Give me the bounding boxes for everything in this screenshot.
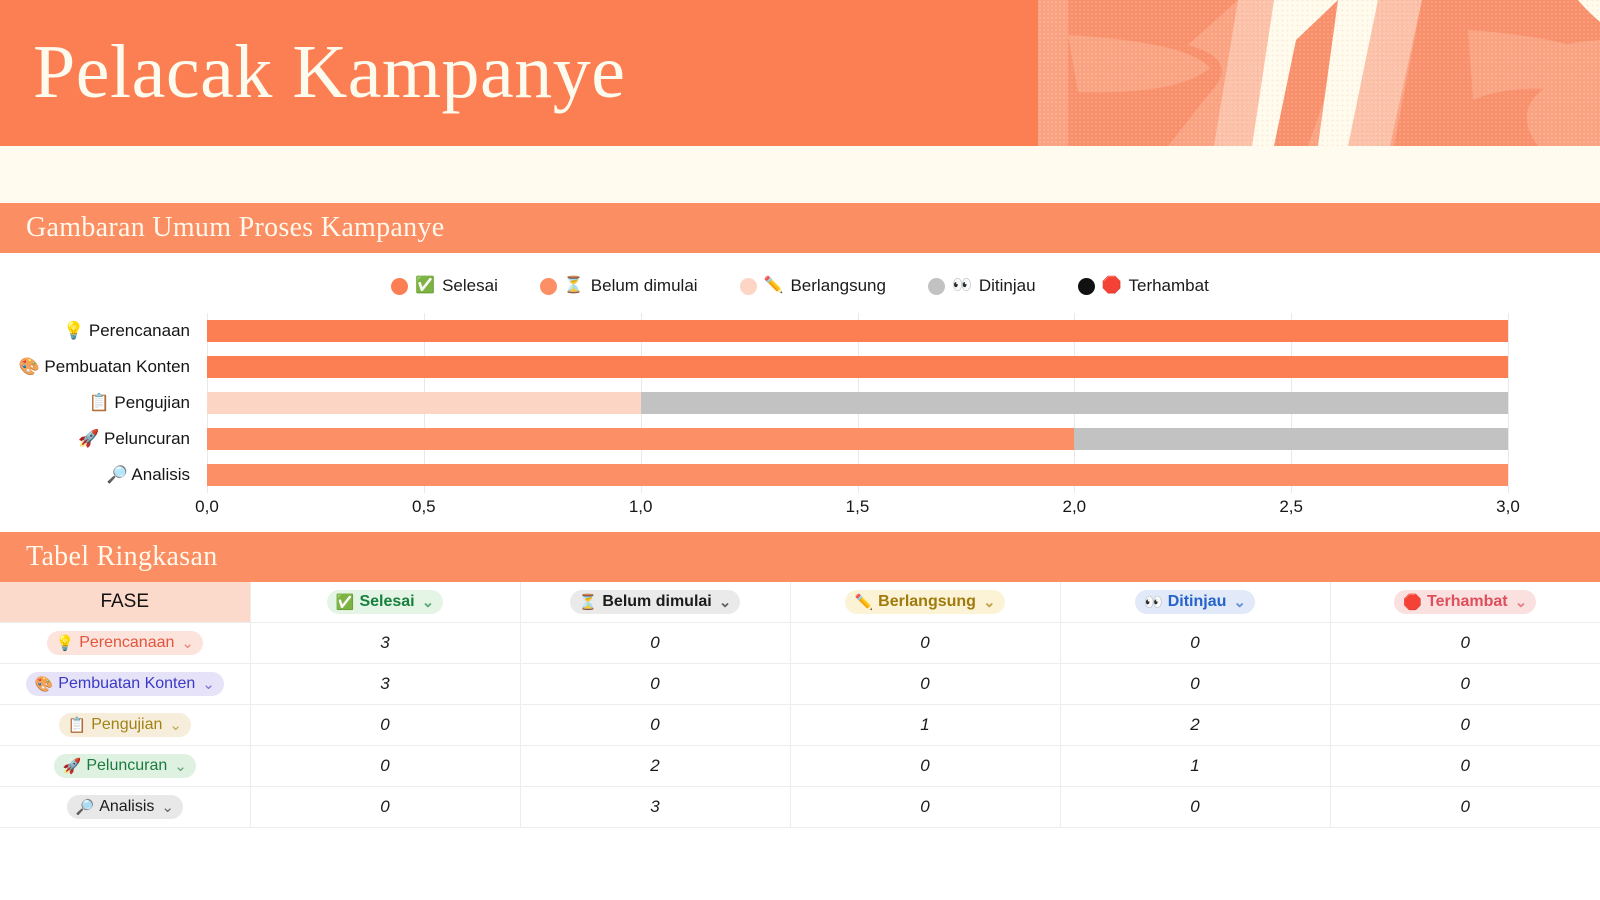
count-cell[interactable]: 0 (1060, 787, 1330, 828)
chart-bar-segment[interactable] (1074, 428, 1508, 450)
count-cell[interactable]: 0 (250, 787, 520, 828)
banner-artwork (1038, 0, 1600, 146)
column-header-belum-dimulai[interactable]: ⏳Belum dimulai⌄ (520, 582, 790, 623)
chevron-down-icon[interactable]: ⌄ (169, 716, 182, 734)
legend-emoji-berlangsung-icon: ✏️ (764, 278, 784, 294)
banner-spacer (0, 146, 1600, 203)
phase-emoji-icon: 🎨 (35, 677, 54, 692)
legend-label: Belum dimulai (591, 276, 698, 296)
x-axis-tick-label: 0,0 (195, 497, 219, 517)
phase-chip[interactable]: 🎨Pembuatan Konten⌄ (26, 672, 224, 696)
phase-emoji-icon: 🚀 (63, 759, 82, 774)
legend-emoji-selesai-icon: ✅ (415, 278, 435, 294)
status-chip-berlangsung[interactable]: ✏️Berlangsung⌄ (845, 590, 1004, 614)
status-chip-ditinjau[interactable]: 👀Ditinjau⌄ (1135, 590, 1255, 614)
table-row: 🚀Peluncuran⌄02010 (0, 746, 1600, 787)
count-cell[interactable]: 3 (250, 623, 520, 664)
chart-bar-row[interactable] (207, 428, 1508, 450)
column-header-ditinjau[interactable]: 👀Ditinjau⌄ (1060, 582, 1330, 623)
status-chip-label: Terhambat (1427, 593, 1508, 611)
chart-bar-row[interactable] (207, 320, 1508, 342)
count-cell[interactable]: 0 (1330, 623, 1600, 664)
summary-table: FASE ✅Selesai⌄ ⏳Belum dimulai⌄ ✏️Berlang… (0, 582, 1600, 828)
legend-label: Berlangsung (790, 276, 885, 296)
y-axis-label-1: 🎨 Pembuatan Konten (19, 352, 190, 382)
count-cell[interactable]: 0 (1060, 664, 1330, 705)
legend-item-belum[interactable]: ⏳Belum dimulai (540, 276, 698, 296)
table-section-header: Tabel Ringkasan (0, 532, 1600, 582)
chart-bar-segment[interactable] (207, 320, 1508, 342)
x-axis-tick-label: 0,5 (412, 497, 436, 517)
phase-chip-label: Perencanaan (79, 634, 174, 652)
table-section-title: Tabel Ringkasan (0, 541, 218, 573)
count-cell[interactable]: 0 (250, 705, 520, 746)
phase-chip[interactable]: 📋Pengujian⌄ (59, 713, 191, 737)
count-cell[interactable]: 0 (790, 664, 1060, 705)
chart-bar-row[interactable] (207, 464, 1508, 486)
chart-gridline (1508, 313, 1509, 493)
count-cell[interactable]: 0 (1330, 705, 1600, 746)
campaign-progress-chart: ✅Selesai⏳Belum dimulai✏️Berlangsung👀Diti… (0, 253, 1600, 532)
count-cell[interactable]: 2 (520, 746, 790, 787)
page-title: Pelacak Kampanye (33, 14, 626, 130)
phase-emoji-icon: 💡 (56, 636, 75, 651)
legend-marker-terhambat-icon (1078, 278, 1095, 295)
count-cell[interactable]: 0 (1330, 787, 1600, 828)
chevron-down-icon[interactable]: ⌄ (174, 757, 187, 775)
phase-cell: 📋Pengujian⌄ (0, 705, 250, 746)
chart-bar-row[interactable] (207, 356, 1508, 378)
table-body: 💡Perencanaan⌄30000🎨Pembuatan Konten⌄3000… (0, 623, 1600, 828)
phase-cell: 🎨Pembuatan Konten⌄ (0, 664, 250, 705)
status-chip-label: Ditinjau (1168, 593, 1227, 611)
legend-emoji-ditinjau-icon: 👀 (952, 278, 972, 294)
count-cell[interactable]: 3 (520, 787, 790, 828)
count-cell[interactable]: 0 (520, 623, 790, 664)
legend-marker-berlangsung-icon (740, 278, 757, 295)
chevron-down-icon[interactable]: ⌄ (161, 798, 174, 816)
phase-chip-label: Peluncuran (86, 757, 167, 775)
status-emoji-berlangsung-icon: ✏️ (854, 595, 873, 610)
chevron-down-icon[interactable]: ⌄ (983, 593, 996, 611)
chevron-down-icon[interactable]: ⌄ (719, 593, 732, 611)
page-banner: Pelacak Kampanye (0, 0, 1600, 146)
phase-chip-label: Pembuatan Konten (58, 675, 195, 693)
chevron-down-icon[interactable]: ⌄ (1515, 593, 1528, 611)
chart-y-axis-labels: 💡 Perencanaan🎨 Pembuatan Konten📋 Penguji… (0, 313, 200, 493)
count-cell[interactable]: 3 (250, 664, 520, 705)
chart-legend: ✅Selesai⏳Belum dimulai✏️Berlangsung👀Diti… (0, 253, 1600, 301)
chart-bar-segment[interactable] (207, 428, 1074, 450)
status-chip-label: Belum dimulai (602, 593, 711, 611)
count-cell[interactable]: 0 (790, 787, 1060, 828)
phase-chip[interactable]: 💡Perencanaan⌄ (47, 631, 203, 655)
campaign-tracker-page: Pelacak Kampanye Gambaran Umum Proses Ka… (0, 0, 1600, 900)
x-axis-tick-label: 2,0 (1063, 497, 1087, 517)
legend-label: Selesai (442, 276, 498, 296)
status-chip-belum[interactable]: ⏳Belum dimulai⌄ (570, 590, 741, 614)
table-header-row: FASE ✅Selesai⌄ ⏳Belum dimulai⌄ ✏️Berlang… (0, 582, 1600, 623)
status-chip-label: Berlangsung (878, 593, 976, 611)
status-emoji-belum-icon: ⏳ (579, 595, 598, 610)
column-header-berlangsung[interactable]: ✏️Berlangsung⌄ (790, 582, 1060, 623)
chart-bar-segment[interactable] (207, 356, 1508, 378)
legend-item-selesai[interactable]: ✅Selesai (391, 276, 498, 296)
chart-plot: 💡 Perencanaan🎨 Pembuatan Konten📋 Penguji… (0, 313, 1600, 525)
phase-chip-label: Pengujian (91, 716, 162, 734)
x-axis-tick-label: 2,5 (1279, 497, 1303, 517)
phase-emoji-icon: 📋 (68, 718, 87, 733)
legend-marker-ditinjau-icon (928, 278, 945, 295)
phase-chip[interactable]: 🚀Peluncuran⌄ (54, 754, 196, 778)
column-header-fase: FASE (0, 582, 250, 623)
count-cell[interactable]: 0 (1060, 623, 1330, 664)
summary-table-wrap: FASE ✅Selesai⌄ ⏳Belum dimulai⌄ ✏️Berlang… (0, 582, 1600, 828)
y-axis-label-3: 🚀 Peluncuran (78, 424, 190, 454)
phase-cell: 🔎Analisis⌄ (0, 787, 250, 828)
chart-bar-segment[interactable] (207, 392, 641, 414)
legend-emoji-terhambat-icon: 🛑 (1102, 278, 1122, 294)
table-row: 📋Pengujian⌄00120 (0, 705, 1600, 746)
chart-plot-area (207, 313, 1508, 493)
x-axis-tick-label: 1,5 (846, 497, 870, 517)
phase-chip-label: Analisis (99, 798, 154, 816)
chart-bar-segment[interactable] (207, 464, 1508, 486)
status-chip-selesai[interactable]: ✅Selesai⌄ (327, 590, 443, 614)
phase-emoji-icon: 🔎 (76, 800, 95, 815)
y-axis-label-4: 🔎 Analisis (106, 460, 190, 490)
x-axis-tick-label: 1,0 (629, 497, 653, 517)
count-cell[interactable]: 0 (790, 746, 1060, 787)
legend-item-ditinjau[interactable]: 👀Ditinjau (928, 276, 1036, 296)
status-chip-terhambat[interactable]: 🛑Terhambat⌄ (1394, 590, 1536, 614)
status-emoji-selesai-icon: ✅ (336, 595, 355, 610)
y-axis-label-2: 📋 Pengujian (88, 388, 190, 418)
phase-cell: 🚀Peluncuran⌄ (0, 746, 250, 787)
legend-emoji-belum-icon: ⏳ (564, 278, 584, 294)
status-emoji-terhambat-icon: 🛑 (1403, 595, 1422, 610)
table-row: 💡Perencanaan⌄30000 (0, 623, 1600, 664)
legend-item-terhambat[interactable]: 🛑Terhambat (1078, 276, 1209, 296)
legend-item-berlangsung[interactable]: ✏️Berlangsung (740, 276, 886, 296)
chart-bar-segment[interactable] (641, 392, 1508, 414)
column-header-terhambat[interactable]: 🛑Terhambat⌄ (1330, 582, 1600, 623)
chart-x-axis: 0,00,51,01,52,02,53,0 (207, 495, 1508, 523)
legend-label: Terhambat (1128, 276, 1208, 296)
legend-marker-selesai-icon (391, 278, 408, 295)
count-cell[interactable]: 0 (250, 746, 520, 787)
chart-bar-row[interactable] (207, 392, 1508, 414)
chevron-down-icon[interactable]: ⌄ (181, 634, 194, 652)
y-axis-label-0: 💡 Perencanaan (63, 316, 190, 346)
count-cell[interactable]: 0 (520, 705, 790, 746)
status-chip-label: Selesai (359, 593, 414, 611)
table-row: 🔎Analisis⌄03000 (0, 787, 1600, 828)
count-cell[interactable]: 1 (1060, 746, 1330, 787)
phase-cell: 💡Perencanaan⌄ (0, 623, 250, 664)
table-row: 🎨Pembuatan Konten⌄30000 (0, 664, 1600, 705)
chart-section-header: Gambaran Umum Proses Kampanye (0, 203, 1600, 253)
x-axis-tick-label: 3,0 (1496, 497, 1520, 517)
count-cell[interactable]: 1 (790, 705, 1060, 746)
status-emoji-ditinjau-icon: 👀 (1144, 595, 1163, 610)
count-cell[interactable]: 0 (520, 664, 790, 705)
phase-chip[interactable]: 🔎Analisis⌄ (67, 795, 183, 819)
chevron-down-icon[interactable]: ⌄ (422, 593, 435, 611)
count-cell[interactable]: 2 (1060, 705, 1330, 746)
count-cell[interactable]: 0 (790, 623, 1060, 664)
column-header-selesai[interactable]: ✅Selesai⌄ (250, 582, 520, 623)
count-cell[interactable]: 0 (1330, 746, 1600, 787)
chevron-down-icon[interactable]: ⌄ (1233, 593, 1246, 611)
legend-label: Ditinjau (979, 276, 1036, 296)
legend-marker-belum-icon (540, 278, 557, 295)
count-cell[interactable]: 0 (1330, 664, 1600, 705)
chart-section-title: Gambaran Umum Proses Kampanye (0, 212, 445, 244)
chevron-down-icon[interactable]: ⌄ (202, 675, 215, 693)
